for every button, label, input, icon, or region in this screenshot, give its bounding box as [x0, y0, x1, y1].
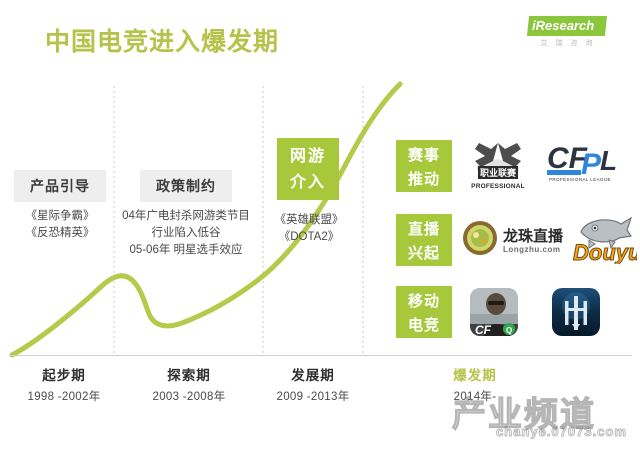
driver-tournaments-badge: 赛事 推动: [396, 140, 452, 192]
svg-text:Q: Q: [506, 326, 512, 335]
stage-1-badge: 产品引导: [14, 170, 106, 202]
stage-1-detail: 《星际争霸》 《反恐精英》: [8, 208, 112, 242]
timeline-1-years: 1998 -2002年: [14, 388, 114, 404]
timeline-2-name: 探索期: [134, 364, 244, 384]
logo-subtitle: 艾 瑞 咨 询: [530, 38, 606, 48]
driver-tournaments-line-1: 赛事: [396, 144, 452, 168]
stage-1-line-1: 《星际争霸》: [8, 208, 112, 225]
mobile-game-icon: [552, 288, 600, 336]
stage-3-line-2: 《DOTA2》: [266, 229, 352, 246]
cfpl-logo: CF P L PROFESSIONAL LEAGUE: [545, 140, 625, 186]
driver-livestream-line-2: 兴起: [396, 242, 452, 266]
svg-text:CF: CF: [475, 323, 492, 336]
stage-3-detail: 《英雄联盟》 《DOTA2》: [266, 212, 352, 246]
logo-wordmark: iResearch: [532, 18, 608, 34]
watermark-url: chanye.07073.com: [496, 424, 640, 439]
driver-mobile-line-2: 电竞: [396, 314, 452, 338]
driver-livestream-badge: 直播 兴起: [396, 214, 452, 266]
timeline-item-1: 起步期 1998 -2002年: [14, 364, 114, 404]
timeline-item-3: 发展期 2009 -2013年: [258, 364, 368, 404]
driver-livestream-line-1: 直播: [396, 218, 452, 242]
driver-mobile-line-1: 移动: [396, 290, 452, 314]
stage-1-line-2: 《反恐精英》: [8, 225, 112, 242]
timeline-4-years: 2014年-: [420, 388, 530, 404]
stage-3-line-1: 《英雄联盟》: [266, 212, 352, 229]
svg-text:PROFESSIONAL LEAGUE: PROFESSIONAL LEAGUE: [549, 177, 611, 182]
cf-mobile-icon: CF Q: [470, 288, 518, 336]
stage-2-badge: 政策制约: [140, 170, 232, 202]
lpl-logo: 职业联赛 PROFESSIONAL: [465, 137, 531, 193]
stage-3-badge-line-1: 网游: [277, 144, 339, 170]
svg-text:龙珠直播: 龙珠直播: [502, 227, 564, 245]
timeline-1-name: 起步期: [14, 364, 114, 384]
timeline-3-years: 2009 -2013年: [258, 388, 368, 404]
page-title: 中国电竞进入爆发期: [45, 22, 279, 58]
timeline-4-name: 爆发期: [420, 364, 530, 384]
timeline-item-2: 探索期 2003 -2008年: [134, 364, 244, 404]
timeline-2-years: 2003 -2008年: [134, 388, 244, 404]
timeline-3-name: 发展期: [258, 364, 368, 384]
douyu-logo: Douyu: [565, 212, 637, 264]
axis-baseline: [10, 355, 632, 356]
stage-3-badge: 网游 介入: [277, 138, 339, 200]
svg-text:PROFESSIONAL: PROFESSIONAL: [471, 183, 525, 190]
stage-2-line-3: 05-06年 明星选手效应: [117, 242, 255, 259]
infographic-canvas: 中国电竞进入爆发期 iResearch 艾 瑞 咨 询 产品引导 《星际争霸》 …: [0, 0, 640, 453]
stage-2-line-1: 04年广电封杀网游类节目: [117, 208, 255, 225]
driver-tournaments-line-2: 推动: [396, 168, 452, 192]
stage-2-detail: 04年广电封杀网游类节目 行业陷入低谷 05-06年 明星选手效应: [117, 208, 255, 259]
longzhu-logo: 龙珠直播 Longzhu.com: [461, 218, 571, 262]
iresearch-logo: iResearch 艾 瑞 咨 询: [528, 16, 606, 52]
watermark: 产业频道 chanye.07073.com: [452, 398, 640, 450]
stage-2-line-2: 行业陷入低谷: [117, 225, 255, 242]
timeline-item-4: 爆发期 2014年-: [420, 364, 530, 404]
svg-text:Douyu: Douyu: [573, 240, 637, 264]
svg-text:L: L: [600, 145, 617, 176]
svg-text:Longzhu.com: Longzhu.com: [503, 245, 561, 254]
svg-text:职业联赛: 职业联赛: [480, 167, 517, 178]
driver-mobile-badge: 移动 电竞: [396, 286, 452, 338]
stage-3-badge-line-2: 介入: [277, 170, 339, 196]
